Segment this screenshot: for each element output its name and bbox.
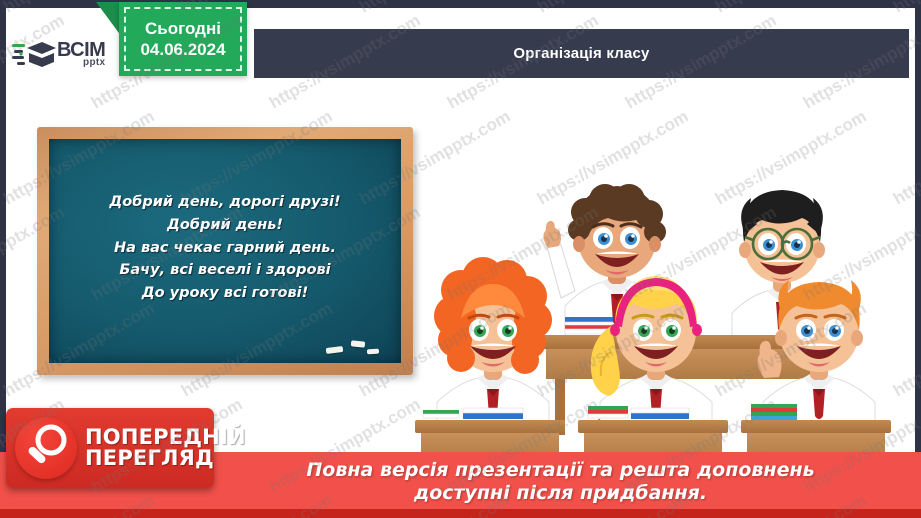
magnifier-icon <box>15 417 77 479</box>
slide-header-bar: Організація класу <box>254 29 909 78</box>
presentation-slide: Добрий день, дорогі друзі! Добрий день! … <box>0 0 921 518</box>
poem-line-1: Добрий день, дорогі друзі! <box>109 191 340 214</box>
blackboard-surface: Добрий день, дорогі друзі! Добрий день! … <box>49 139 401 363</box>
chalk-piece <box>326 346 344 354</box>
date-label: Сьогодні <box>145 18 221 39</box>
chalk-piece <box>367 349 379 355</box>
poem-line-5: До уроку всі готові! <box>109 282 340 305</box>
classroom-students-illustration <box>415 130 915 460</box>
page-title: Організація класу <box>513 45 649 62</box>
blackboard: Добрий день, дорогі друзі! Добрий день! … <box>37 127 413 375</box>
date-value: 04.06.2024 <box>140 39 225 60</box>
preview-badge-text: ПОПЕРЕДНІЙ ПЕРЕГЛЯД <box>85 427 246 470</box>
blackboard-poem: Добрий день, дорогі друзі! Добрий день! … <box>99 191 350 306</box>
preview-badge: ПОПЕРЕДНІЙ ПЕРЕГЛЯД <box>6 408 214 488</box>
chalk-piece <box>351 340 366 347</box>
poem-line-3: На вас чекає гарний день. <box>109 237 340 260</box>
brand-logo[interactable]: ВСІМ pptx <box>6 26 112 82</box>
preview-line-1: ПОПЕРЕДНІЙ <box>85 427 246 448</box>
poem-line-2: Добрий день! <box>109 214 340 237</box>
today-date-badge: Сьогодні 04.06.2024 <box>119 2 247 76</box>
brand-logo-text: ВСІМ pptx <box>57 40 105 68</box>
banner-line-2: доступні після придбання. <box>306 482 814 505</box>
preview-line-2: ПЕРЕГЛЯД <box>85 448 246 469</box>
poem-line-4: Бачу, всі веселі і здорові <box>109 259 340 282</box>
student-redhair-girl <box>434 257 552 426</box>
graduation-cap-icon <box>12 37 56 71</box>
banner-line-1: Повна версія презентації та решта доповн… <box>306 459 814 482</box>
